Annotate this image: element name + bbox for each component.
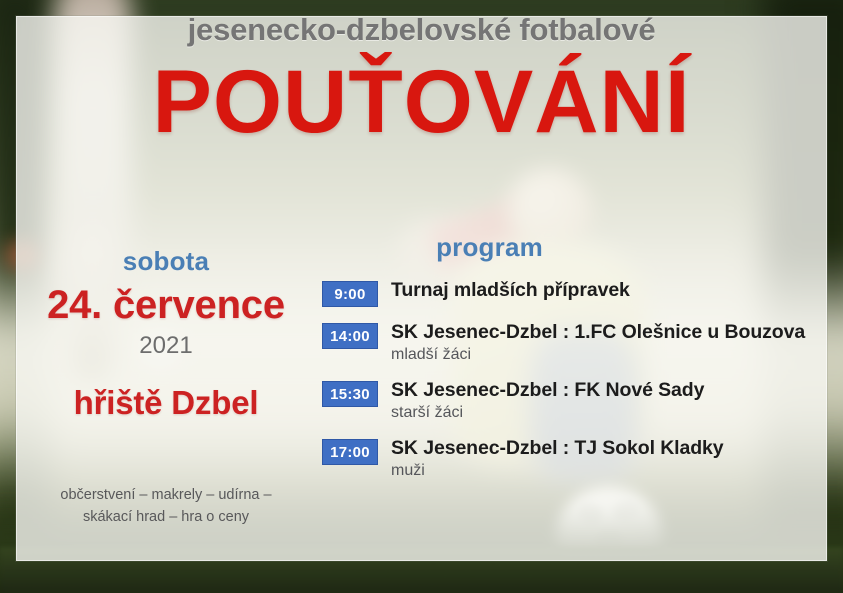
program-match: Turnaj mladších přípravek [391, 279, 630, 302]
program-list: 9:00Turnaj mladších přípravek14:00SK Jes… [322, 279, 827, 481]
program-text: SK Jesenec-Dzbel : 1.FC Olešnice u Bouzo… [378, 321, 805, 365]
event-year: 2021 [16, 332, 316, 360]
program-column: program 9:00Turnaj mladších přípravek14:… [316, 232, 827, 495]
poster-body: sobota 24. července 2021 hřiště Dzbel ob… [16, 232, 827, 529]
event-extras: občerstvení – makrely – udírna – skákací… [16, 484, 316, 529]
program-match: SK Jesenec-Dzbel : 1.FC Olešnice u Bouzo… [391, 321, 805, 344]
event-day: sobota [16, 246, 316, 277]
program-category: starší žáci [391, 403, 704, 423]
event-extras-line-1: občerstvení – makrely – udírna – [24, 484, 308, 506]
program-match: SK Jesenec-Dzbel : FK Nové Sady [391, 379, 704, 402]
program-text: SK Jesenec-Dzbel : TJ Sokol Kladkymuži [378, 437, 724, 481]
event-poster: jesenecko-dzbelovské fotbalové POUŤOVÁNÍ… [0, 0, 843, 593]
event-venue: hřiště Dzbel [16, 384, 316, 422]
event-date: 24. července [16, 283, 316, 328]
program-category: mladší žáci [391, 345, 805, 365]
event-details-column: sobota 24. července 2021 hřiště Dzbel ob… [16, 232, 316, 529]
program-time-badge: 17:00 [322, 439, 378, 465]
program-match: SK Jesenec-Dzbel : TJ Sokol Kladky [391, 437, 724, 460]
program-text: SK Jesenec-Dzbel : FK Nové Sadystarší žá… [378, 379, 704, 423]
program-text: Turnaj mladších přípravek [378, 279, 630, 302]
program-row: 9:00Turnaj mladších přípravek [322, 279, 827, 307]
program-row: 14:00SK Jesenec-Dzbel : 1.FC Olešnice u … [322, 321, 827, 365]
program-heading: program [322, 232, 827, 263]
program-time-badge: 15:30 [322, 381, 378, 407]
program-row: 17:00SK Jesenec-Dzbel : TJ Sokol Kladkym… [322, 437, 827, 481]
event-extras-line-2: skákací hrad – hra o ceny [24, 506, 308, 528]
program-time-badge: 14:00 [322, 323, 378, 349]
program-row: 15:30SK Jesenec-Dzbel : FK Nové Sadystar… [322, 379, 827, 423]
program-time-badge: 9:00 [322, 281, 378, 307]
program-category: muži [391, 461, 724, 481]
